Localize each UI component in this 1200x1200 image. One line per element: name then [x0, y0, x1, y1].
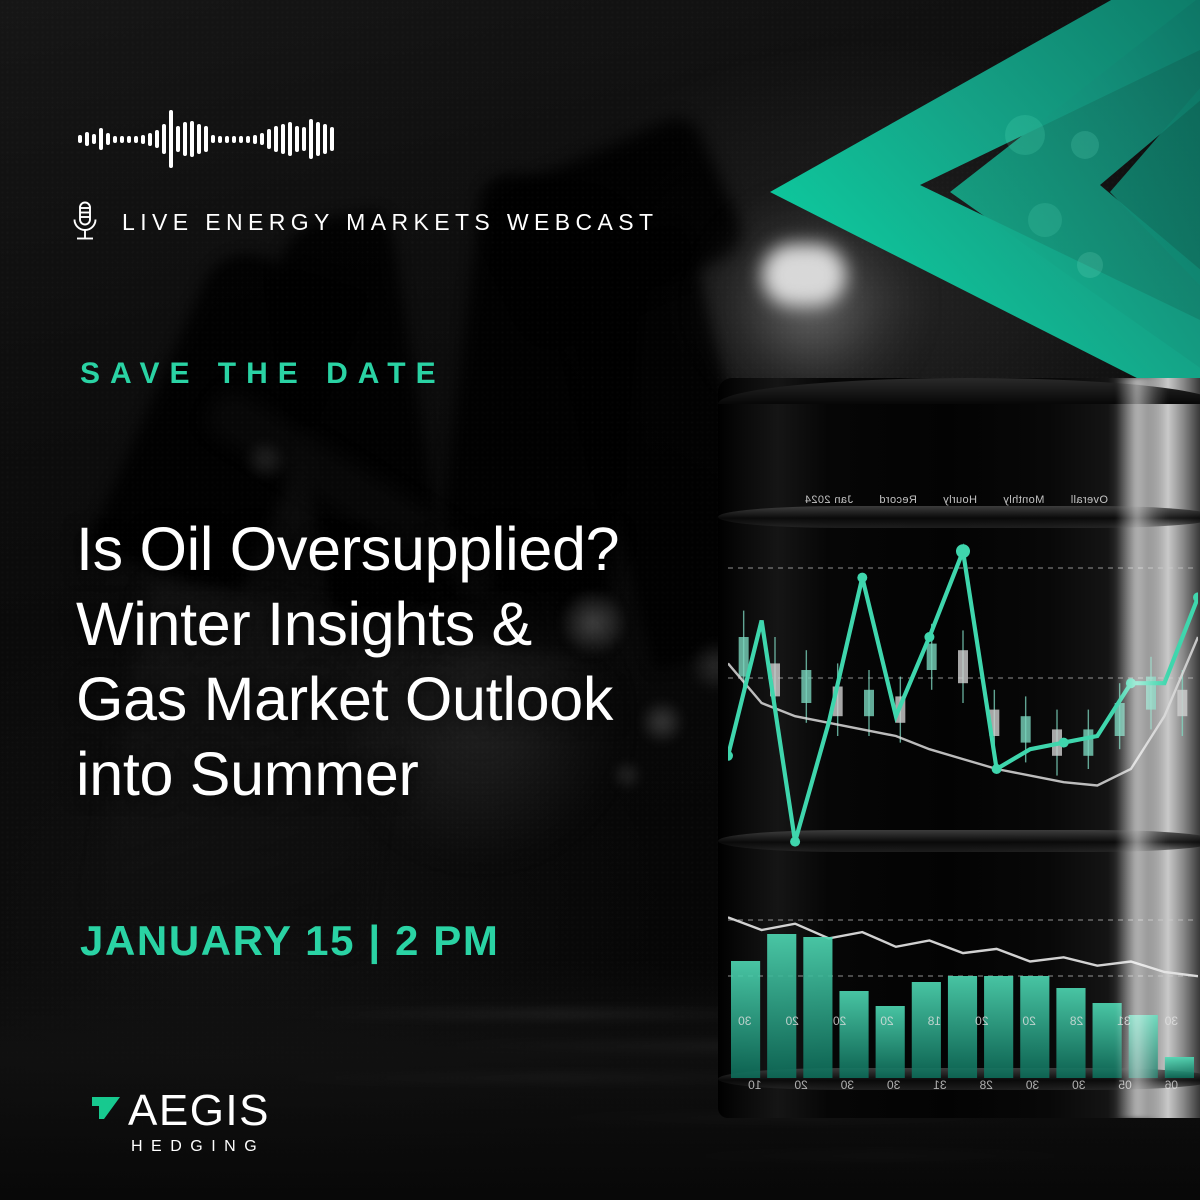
- audio-waveform-icon: [78, 108, 337, 170]
- headline-line: Winter Insights &: [76, 587, 619, 662]
- waveform-bar: [267, 129, 271, 149]
- waveform-bar: [246, 136, 250, 143]
- waveform-bar: [204, 126, 208, 152]
- waveform-bar: [169, 110, 173, 168]
- waveform-bar: [155, 130, 159, 148]
- aegis-logo-text: AEGIS HEDGING: [128, 1089, 270, 1158]
- waveform-bar: [302, 127, 306, 151]
- waveform-bar: [162, 124, 166, 154]
- waveform-bar: [253, 135, 257, 144]
- waveform-bar: [92, 134, 96, 144]
- promo-poster: Overall Monthly Hourly Record Jan 2024: [0, 0, 1200, 1200]
- waveform-bar: [288, 122, 292, 156]
- waveform-bar: [323, 124, 327, 154]
- webcast-kicker-row: LIVE ENERGY MARKETS WEBCAST: [70, 200, 658, 244]
- waveform-bar: [295, 126, 299, 152]
- poster-content: LIVE ENERGY MARKETS WEBCAST SAVE THE DAT…: [0, 0, 1200, 1200]
- waveform-bar: [232, 136, 236, 143]
- waveform-bar: [134, 136, 138, 143]
- waveform-bar: [309, 119, 313, 159]
- waveform-bar: [197, 124, 201, 154]
- waveform-bar: [78, 135, 82, 143]
- waveform-bar: [99, 128, 103, 150]
- waveform-bar: [316, 122, 320, 156]
- headline-line: Gas Market Outlook: [76, 662, 619, 737]
- waveform-bar: [148, 133, 152, 146]
- waveform-bar: [260, 133, 264, 145]
- waveform-bar: [274, 126, 278, 152]
- headline-line: into Summer: [76, 737, 619, 812]
- page-title: Is Oil Oversupplied? Winter Insights & G…: [76, 512, 619, 812]
- waveform-bar: [330, 127, 334, 151]
- webcast-kicker-text: LIVE ENERGY MARKETS WEBCAST: [122, 209, 658, 236]
- waveform-bar: [183, 122, 187, 156]
- waveform-bar: [113, 136, 117, 143]
- waveform-bar: [190, 121, 194, 157]
- waveform-bar: [106, 133, 110, 145]
- waveform-bar: [211, 135, 215, 143]
- microphone-icon: [70, 200, 100, 244]
- waveform-bar: [141, 135, 145, 144]
- event-date-time: JANUARY 15 | 2 PM: [80, 917, 499, 965]
- waveform-bar: [127, 136, 131, 143]
- waveform-bar: [225, 136, 229, 143]
- aegis-arrow-mark-icon: [88, 1093, 124, 1125]
- waveform-bar: [218, 136, 222, 143]
- headline-line: Is Oil Oversupplied?: [76, 512, 619, 587]
- waveform-bar: [85, 132, 89, 146]
- aegis-wordmark: AEGIS: [128, 1089, 270, 1133]
- eyebrow-save-the-date: SAVE THE DATE: [80, 357, 446, 391]
- waveform-bar: [120, 136, 124, 143]
- waveform-bar: [281, 124, 285, 154]
- aegis-subtitle: HEDGING: [128, 1136, 270, 1158]
- waveform-bar: [239, 136, 243, 143]
- aegis-hedging-logo: AEGIS HEDGING: [88, 1089, 270, 1158]
- waveform-bar: [176, 126, 180, 152]
